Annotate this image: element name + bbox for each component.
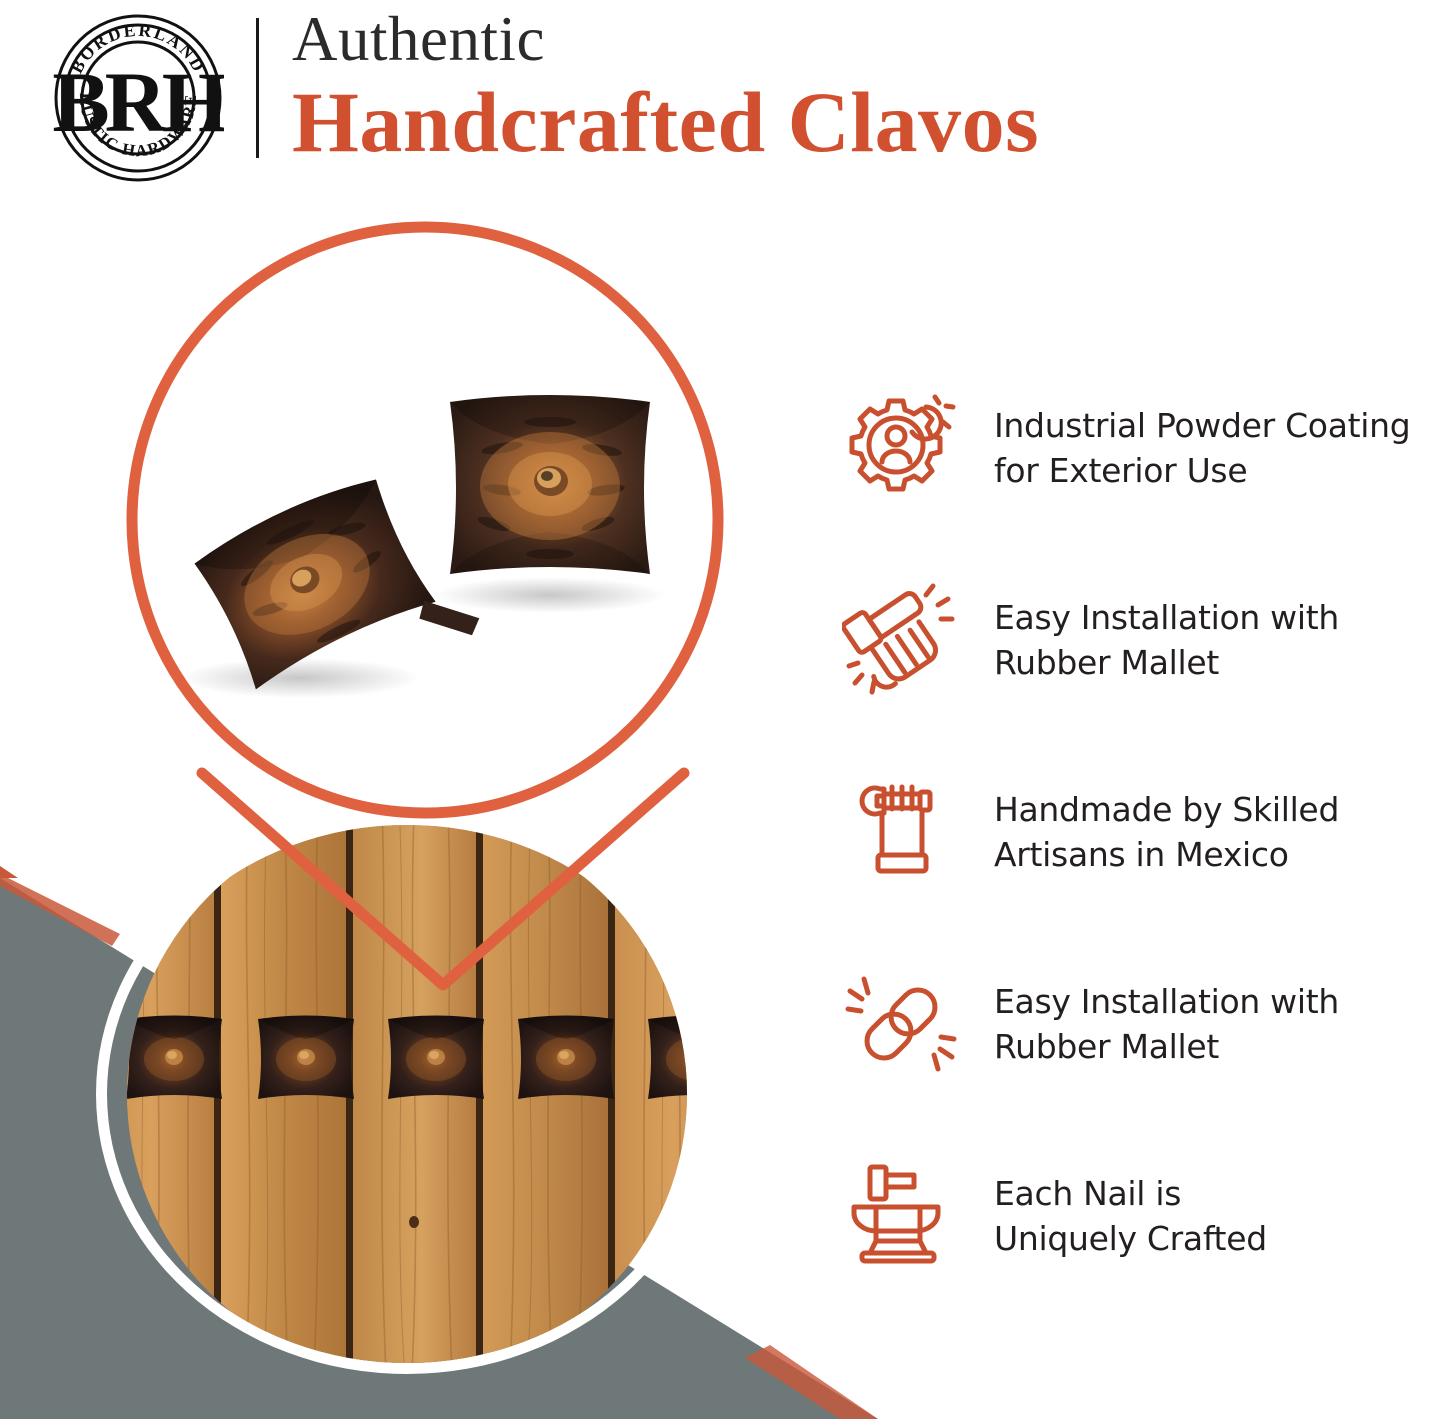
feature-item: Easy Installation with Rubber Mallet	[836, 928, 1445, 1120]
page-header: BORDERLAND RUSTIC HARDWARE BRH Authentic…	[0, 0, 1445, 195]
magnifier-callout	[110, 225, 750, 1015]
logo-monogram: BRH	[52, 54, 224, 150]
chain-link-icon	[836, 959, 966, 1089]
fist-wrench-icon	[836, 767, 966, 897]
header-kicker: Authentic	[292, 4, 1039, 74]
feature-text: Industrial Powder Coating for Exterior U…	[966, 403, 1410, 493]
feature-text: Easy Installation with Rubber Mallet	[966, 595, 1339, 685]
feature-item: Industrial Powder Coating for Exterior U…	[836, 352, 1445, 544]
feature-text: Easy Installation with Rubber Mallet	[966, 979, 1339, 1069]
feature-text: Handmade by Skilled Artisans in Mexico	[966, 787, 1339, 877]
anvil-hammer-icon	[836, 1151, 966, 1281]
feature-item: Easy Installation with Rubber Mallet	[836, 544, 1445, 736]
magnifier-pointer-tail	[202, 773, 684, 985]
feature-text: Each Nail is Uniquely Crafted	[966, 1171, 1267, 1261]
gear-person-icon	[836, 383, 966, 513]
brand-logo: BORDERLAND RUSTIC HARDWARE BRH	[52, 12, 224, 184]
feature-item: Each Nail is Uniquely Crafted	[836, 1120, 1445, 1312]
header-divider	[256, 18, 259, 158]
feature-list: Industrial Powder Coating for Exterior U…	[836, 352, 1445, 1312]
mallet-hand-icon	[836, 575, 966, 705]
feature-item: Handmade by Skilled Artisans in Mexico	[836, 736, 1445, 928]
header-titles: Authentic Handcrafted Clavos	[292, 4, 1039, 170]
page-title: Handcrafted Clavos	[292, 74, 1039, 170]
